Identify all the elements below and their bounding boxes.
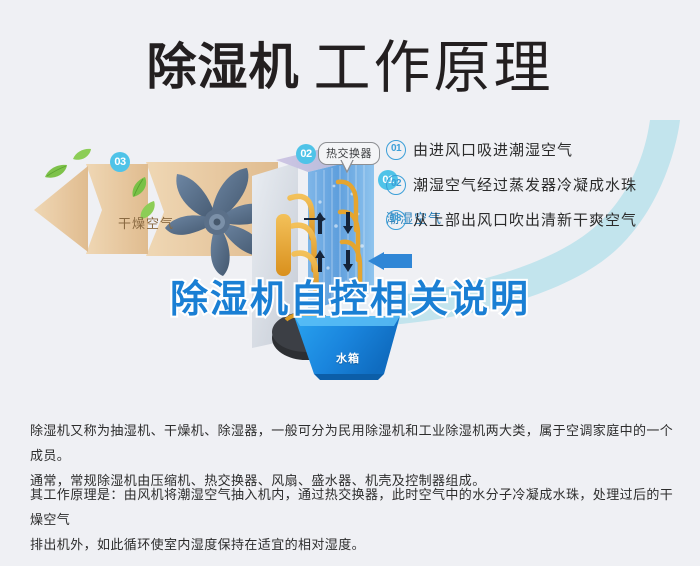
list-item: 02 潮湿空气经过蒸发器冷凝成水珠 <box>386 170 686 199</box>
step-text: 由进风口吸进潮湿空气 <box>413 139 573 160</box>
watermark-overlay-text: 除湿机自控相关说明 <box>0 268 700 323</box>
leaf-icon <box>131 176 149 203</box>
list-item: 01 由进风口吸进潮湿空气 <box>386 135 686 164</box>
dry-air-label: 干燥空气 <box>118 213 174 232</box>
leaf-icon <box>44 164 68 185</box>
badge-dry-air: 03 <box>110 152 130 172</box>
page-title: 除湿机工作原理 <box>0 22 700 104</box>
step-badge: 02 <box>386 175 406 195</box>
paragraph-line: 除湿机又称为抽湿机、干燥机、除湿器，一般可分为民用除湿机和工业除湿机两大类，属于… <box>30 418 678 468</box>
callout-tail-icon <box>340 160 354 173</box>
badge-heat-exchanger: 02 <box>296 144 316 164</box>
leaf-icon <box>72 148 92 167</box>
title-bold-part: 除湿机 <box>147 39 300 95</box>
title-light-part: 工作原理 <box>314 36 554 100</box>
step-badge: 03 <box>386 210 406 230</box>
step-text: 从上部出风口吹出清新干爽空气 <box>413 209 637 230</box>
description-paragraph-2: 其工作原理是：由风机将潮湿空气抽入机内，通过热交换器，此时空气中的水分子冷凝成水… <box>30 482 678 557</box>
paragraph-line: 其工作原理是：由风机将潮湿空气抽入机内，通过热交换器，此时空气中的水分子冷凝成水… <box>30 482 678 532</box>
process-steps-list: 01 由进风口吸进潮湿空气 02 潮湿空气经过蒸发器冷凝成水珠 03 从上部出风… <box>386 135 686 240</box>
infographic-page: 除湿机工作原理 <box>0 0 700 566</box>
list-item: 03 从上部出风口吹出清新干爽空气 <box>386 205 686 234</box>
step-text: 潮湿空气经过蒸发器冷凝成水珠 <box>413 174 637 195</box>
paragraph-line: 排出机外，如此循环使室内湿度保持在适宜的相对湿度。 <box>30 532 678 557</box>
water-tank-label: 水箱 <box>336 350 360 366</box>
step-badge: 01 <box>386 140 406 160</box>
